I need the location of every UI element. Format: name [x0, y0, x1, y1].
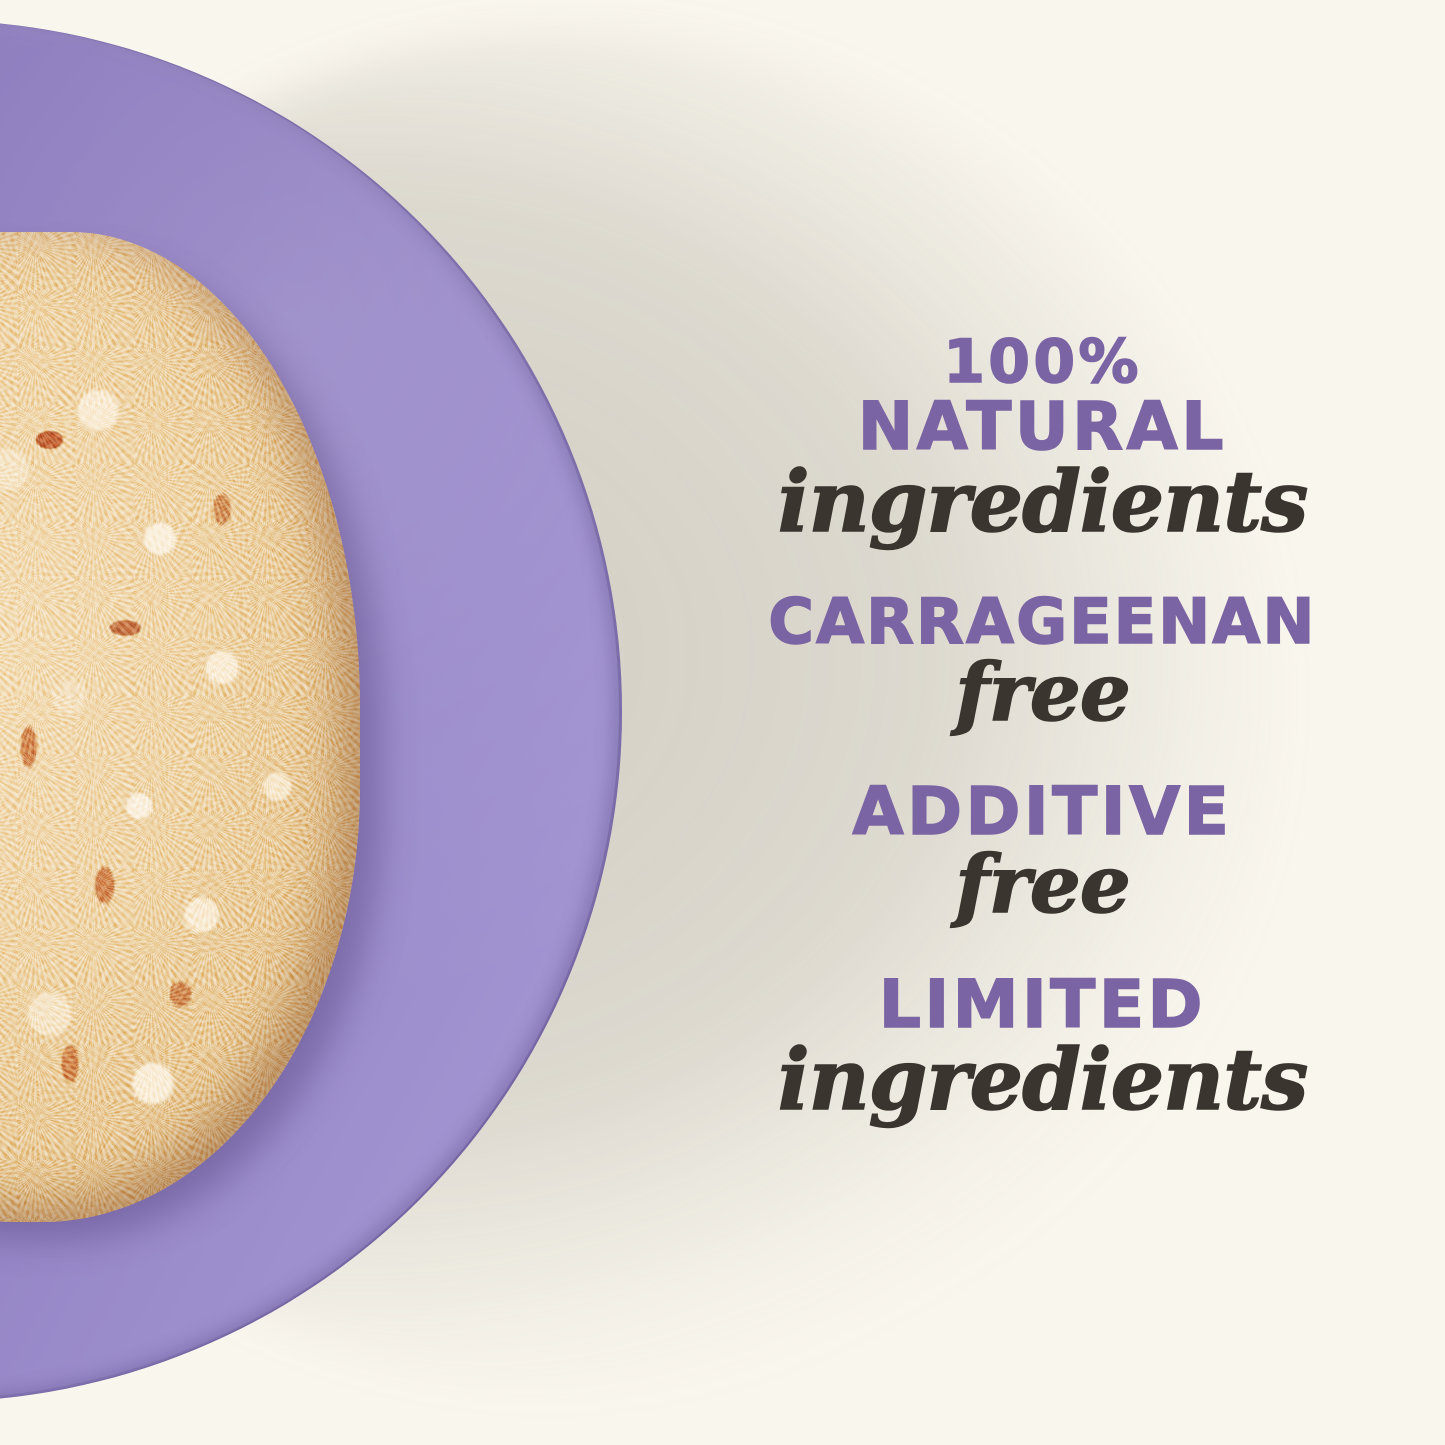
claim-3-cap: LIMITED: [640, 971, 1445, 1038]
claim-additive-free: ADDITIVE free: [640, 778, 1445, 927]
claim-0-cap-line-2: NATURAL: [640, 393, 1445, 460]
claim-0-script: ingredients: [640, 458, 1445, 545]
claim-2-script: free: [640, 843, 1445, 926]
claim-carrageenan-free: CARRAGEENAN free: [640, 590, 1445, 734]
product-feature-graphic: 100% NATURAL ingredients CARRAGEENAN fre…: [0, 0, 1445, 1445]
claim-2-cap: ADDITIVE: [640, 778, 1445, 845]
claim-1-script: free: [640, 651, 1445, 734]
food-edge-shading: [0, 232, 360, 1222]
claim-limited-ingredients: LIMITED ingredients: [640, 971, 1445, 1124]
food-portion: [0, 232, 360, 1222]
claim-natural-ingredients: 100% NATURAL ingredients: [640, 332, 1445, 546]
claim-1-cap: CARRAGEENAN: [640, 590, 1445, 653]
claim-0-cap-line-1: 100%: [640, 332, 1445, 393]
claim-3-script: ingredients: [640, 1036, 1445, 1123]
claims-list: 100% NATURAL ingredients CARRAGEENAN fre…: [640, 0, 1445, 1445]
